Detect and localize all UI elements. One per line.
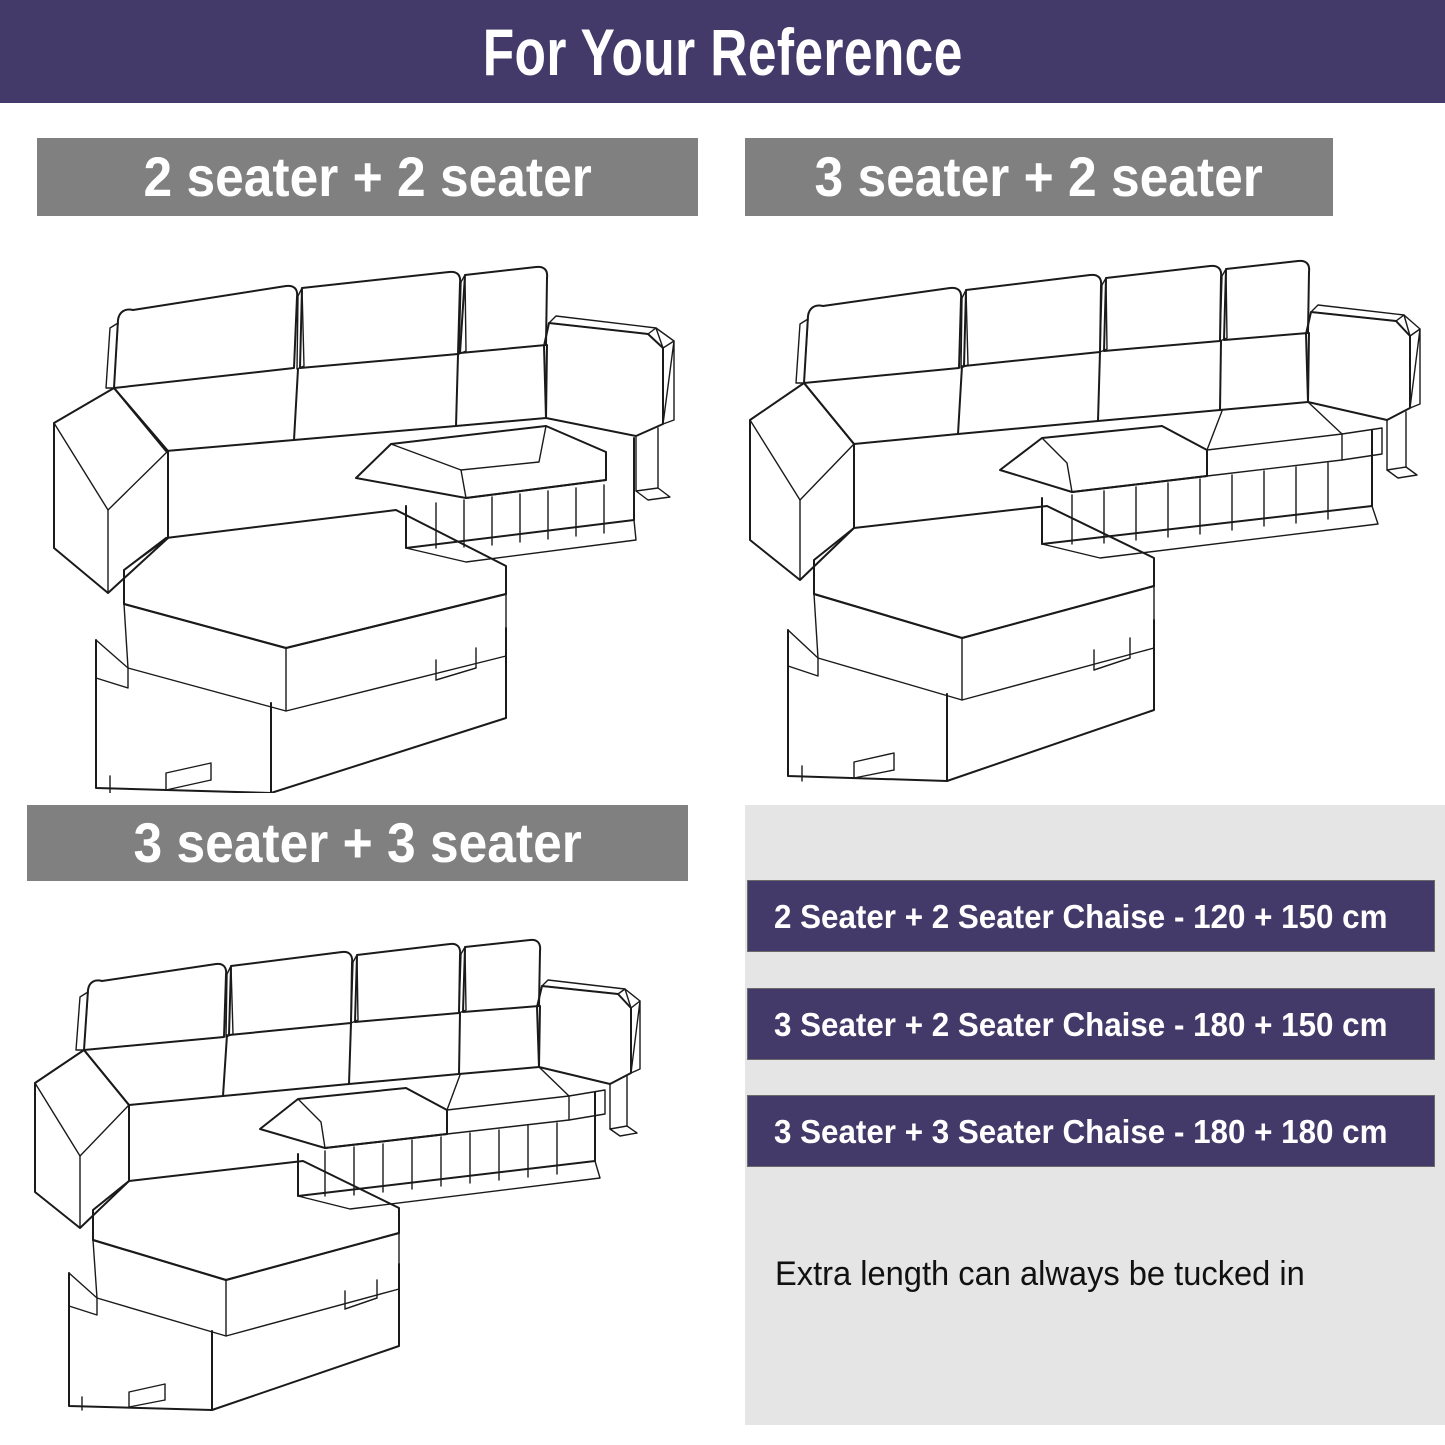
reference-infographic: For Your Reference 2 seater + 2 seater 3… [0, 0, 1445, 1445]
section-label-text: 3 seater + 3 seater [133, 815, 581, 871]
section-label-three-plus-two: 3 seater + 2 seater [745, 138, 1333, 216]
spec-row-text: 3 Seater + 2 Seater Chaise - 180 + 150 c… [774, 1008, 1387, 1041]
section-label-three-plus-three: 3 seater + 3 seater [27, 805, 688, 881]
spec-row-text: 3 Seater + 3 Seater Chaise - 180 + 180 c… [774, 1115, 1387, 1148]
spec-row-three-plus-two: 3 Seater + 2 Seater Chaise - 180 + 150 c… [747, 988, 1435, 1060]
sofa-illustration-two-plus-two [36, 248, 706, 793]
sectional-sofa-icon [742, 248, 1442, 783]
size-info-panel: 2 Seater + 2 Seater Chaise - 120 + 150 c… [745, 805, 1445, 1425]
sofa-illustration-three-plus-two [742, 248, 1442, 783]
spec-row-text: 2 Seater + 2 Seater Chaise - 120 + 150 c… [774, 900, 1387, 933]
sectional-sofa-icon [36, 248, 706, 793]
spec-row-two-plus-two: 2 Seater + 2 Seater Chaise - 120 + 150 c… [747, 880, 1435, 952]
section-label-two-plus-two: 2 seater + 2 seater [37, 138, 698, 216]
header-banner: For Your Reference [0, 0, 1445, 103]
section-label-text: 2 seater + 2 seater [143, 149, 591, 205]
spec-row-three-plus-three: 3 Seater + 3 Seater Chaise - 180 + 180 c… [747, 1095, 1435, 1167]
page-title: For Your Reference [482, 19, 962, 85]
sectional-sofa-icon [28, 928, 658, 1413]
section-label-text: 3 seater + 2 seater [815, 149, 1263, 205]
sofa-illustration-three-plus-three [28, 928, 658, 1413]
tuck-in-footnote: Extra length can always be tucked in [775, 1257, 1409, 1291]
